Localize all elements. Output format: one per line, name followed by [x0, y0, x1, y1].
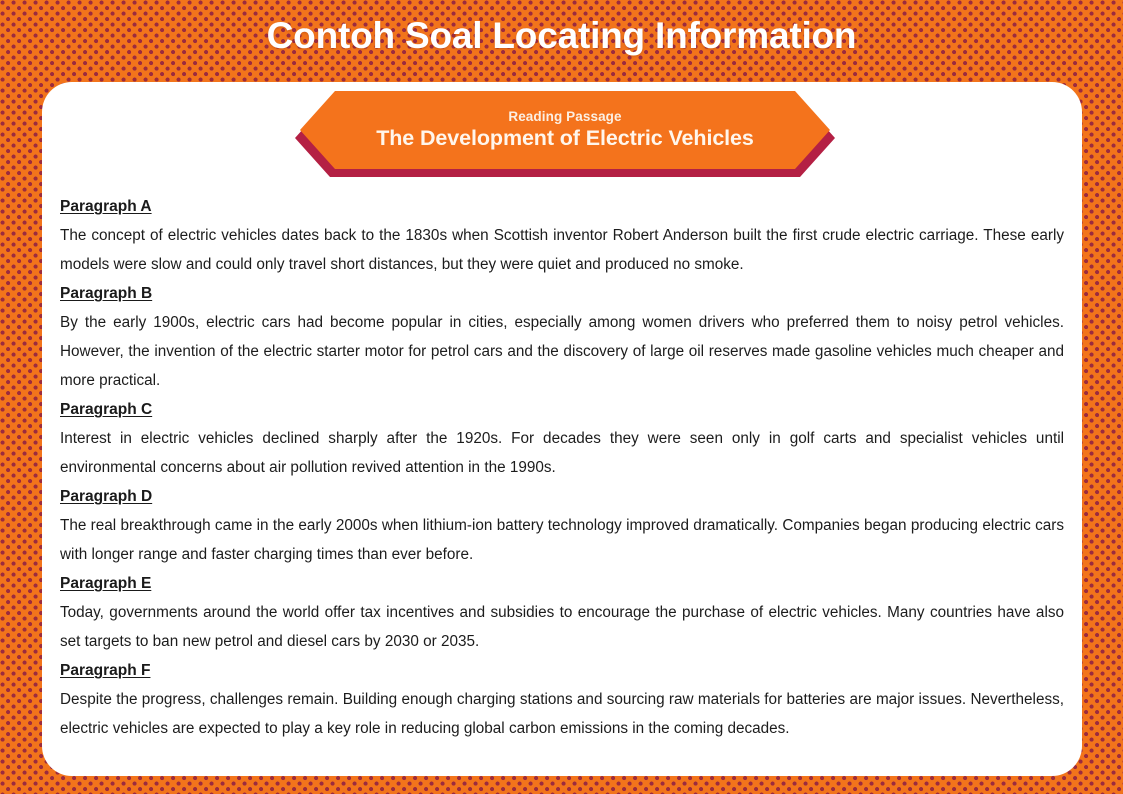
ribbon-heading: The Development of Electric Vehicles — [376, 125, 754, 152]
paragraph-label-row-a: Paragraph A — [60, 192, 1064, 221]
paragraph-label-row-d: Paragraph D — [60, 482, 1064, 511]
paragraph-text-f: Despite the progress, challenges remain.… — [60, 685, 1064, 743]
paragraph-block-b: Paragraph B By the early 1900s, electric… — [60, 279, 1064, 395]
paragraph-label-d: Paragraph D — [60, 482, 152, 511]
paragraph-block-c: Paragraph C Interest in electric vehicle… — [60, 395, 1064, 482]
paragraph-text-d: The real breakthrough came in the early … — [60, 511, 1064, 569]
paragraph-label-b: Paragraph B — [60, 279, 152, 308]
paragraph-text-b: By the early 1900s, electric cars had be… — [60, 308, 1064, 395]
paragraph-text-c: Interest in electric vehicles declined s… — [60, 424, 1064, 482]
paragraph-label-row-b: Paragraph B — [60, 279, 1064, 308]
poster-page: Contoh Soal Locating Information Reading… — [0, 0, 1123, 794]
content-card: Reading Passage The Development of Elect… — [42, 82, 1082, 776]
paragraph-block-e: Paragraph E Today, governments around th… — [60, 569, 1064, 656]
paragraph-block-f: Paragraph F Despite the progress, challe… — [60, 656, 1064, 743]
paragraph-label-e: Paragraph E — [60, 569, 151, 598]
page-title: Contoh Soal Locating Information — [0, 8, 1123, 64]
paragraph-label-row-f: Paragraph F — [60, 656, 1064, 685]
paragraph-label-f: Paragraph F — [60, 656, 150, 685]
ribbon-text-group: Reading Passage The Development of Elect… — [300, 91, 830, 169]
paragraph-text-e: Today, governments around the world offe… — [60, 598, 1064, 656]
paragraph-block-d: Paragraph D The real breakthrough came i… — [60, 482, 1064, 569]
paragraph-text-a: The concept of electric vehicles dates b… — [60, 221, 1064, 279]
paragraph-label-c: Paragraph C — [60, 395, 152, 424]
ribbon-kicker: Reading Passage — [508, 108, 621, 125]
paragraph-label-a: Paragraph A — [60, 192, 152, 221]
reading-passage-ribbon: Reading Passage The Development of Elect… — [295, 86, 835, 178]
paragraph-block-a: Paragraph A The concept of electric vehi… — [60, 192, 1064, 279]
paragraph-label-row-c: Paragraph C — [60, 395, 1064, 424]
paragraph-label-row-e: Paragraph E — [60, 569, 1064, 598]
passage-body: Paragraph A The concept of electric vehi… — [60, 192, 1064, 743]
